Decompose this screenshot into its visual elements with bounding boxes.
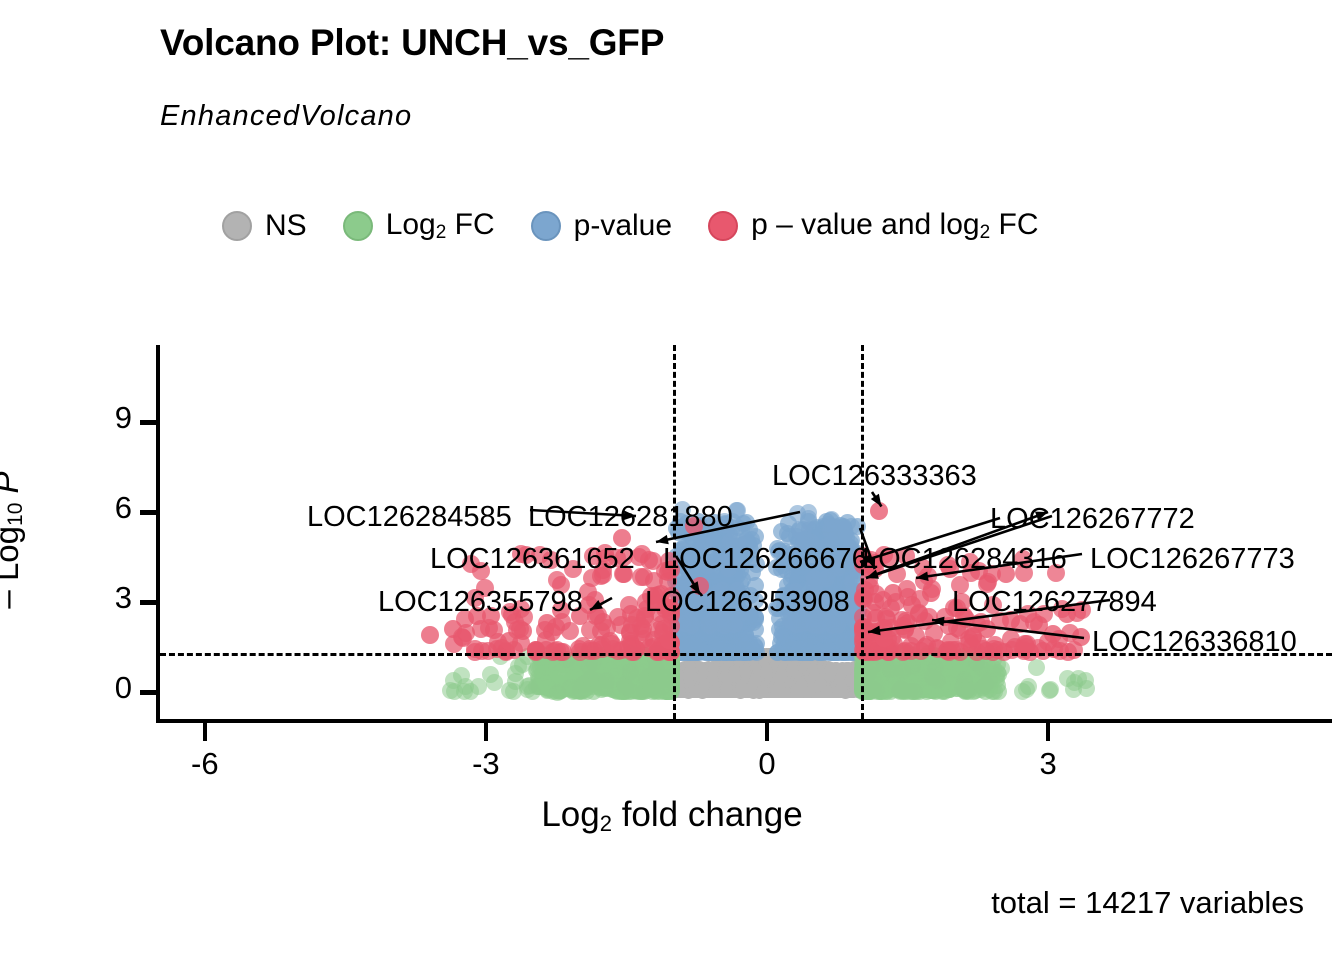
volcano-plot-figure: Volcano Plot: UNCH_vs_GFP EnhancedVolcan… xyxy=(0,0,1344,960)
